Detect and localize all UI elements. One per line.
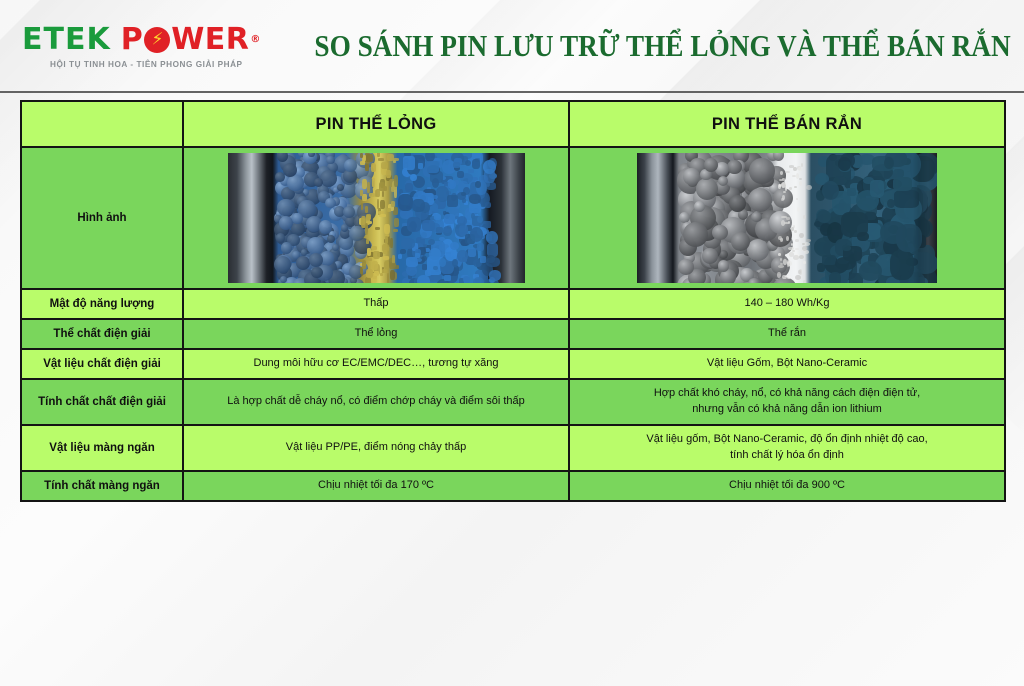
header-divider: [0, 91, 1024, 93]
row-label-5: Vật liệu màng ngăn: [21, 425, 183, 471]
cell-solid-3: Vật liệu Gốm, Bột Nano-Ceramic: [569, 349, 1005, 379]
page-title: SO SÁNH PIN LƯU TRỮ THỂ LỎNG VÀ THỂ BÁN …: [314, 28, 965, 64]
registered-trademark-icon: ®: [250, 34, 260, 45]
cell-solid-image: [569, 147, 1005, 289]
table-body: Hình ảnhMật độ năng lượngThấp140 – 180 W…: [21, 147, 1005, 501]
comparison-table-wrapper: PIN THỂ LỎNG PIN THỂ BÁN RẮN Hình ảnhMật…: [20, 100, 1004, 502]
table-corner-cell: [21, 101, 183, 147]
table-row: Thể chất điện giảiThể lỏngThể rắn: [21, 319, 1005, 349]
cell-solid-4: Hợp chất khó cháy, nổ, có khả năng cách …: [569, 379, 1005, 425]
table-header-row: PIN THỂ LỎNG PIN THỂ BÁN RẮN: [21, 101, 1005, 147]
cell-liquid-1: Thấp: [183, 289, 569, 319]
row-label-2: Thể chất điện giải: [21, 319, 183, 349]
cell-liquid-3: Dung môi hữu cơ EC/EMC/DEC…, tương tự xă…: [183, 349, 569, 379]
table-row: Hình ảnh: [21, 147, 1005, 289]
cell-liquid-5: Vật liệu PP/PE, điểm nóng chảy thấp: [183, 425, 569, 471]
solid-battery-photo: [637, 153, 937, 283]
brand-tagline: HỘI TỤ TINH HOA - TIÊN PHONG GIẢI PHÁP: [50, 60, 262, 69]
row-label-1: Mật độ năng lượng: [21, 289, 183, 319]
cell-solid-5: Vật liệu gốm, Bột Nano-Ceramic, độ ổn đị…: [569, 425, 1005, 471]
cell-solid-2: Thể rắn: [569, 319, 1005, 349]
row-label-4: Tính chất chất điện giải: [21, 379, 183, 425]
cell-liquid-2: Thể lỏng: [183, 319, 569, 349]
cell-liquid-6: Chịu nhiệt tối đa 170 ºC: [183, 471, 569, 501]
cell-solid-6: Chịu nhiệt tối đa 900 ºC: [569, 471, 1005, 501]
brand-logo: ETEK P ⚡ WER ® HỘI TỤ TINH HOA - TIÊN PH…: [22, 22, 262, 69]
table-row: Vật liệu màng ngănVật liệu PP/PE, điểm n…: [21, 425, 1005, 471]
table-row: Tính chất chất điện giảiLà hợp chất dễ c…: [21, 379, 1005, 425]
brand-p-text: P: [121, 22, 144, 57]
cell-liquid-4: Là hợp chất dễ cháy nổ, có điểm chớp chá…: [183, 379, 569, 425]
row-label-6: Tính chất màng ngăn: [21, 471, 183, 501]
row-label-3: Vật liệu chất điện giải: [21, 349, 183, 379]
column-header-liquid: PIN THỂ LỎNG: [183, 101, 569, 147]
cell-liquid-image: [183, 147, 569, 289]
table-row: Tính chất màng ngănChịu nhiệt tối đa 170…: [21, 471, 1005, 501]
brand-wer-text: WER: [171, 22, 249, 57]
comparison-table: PIN THỂ LỎNG PIN THỂ BÁN RẮN Hình ảnhMật…: [20, 100, 1006, 502]
table-row: Vật liệu chất điện giảiDung môi hữu cơ E…: [21, 349, 1005, 379]
brand-etek-text: ETEK: [22, 22, 111, 57]
liquid-battery-photo: [228, 153, 525, 283]
column-header-solid: PIN THỂ BÁN RẮN: [569, 101, 1005, 147]
infographic-page: ETEK P ⚡ WER ® HỘI TỤ TINH HOA - TIÊN PH…: [0, 0, 1024, 686]
table-row: Mật độ năng lượngThấp140 – 180 Wh/Kg: [21, 289, 1005, 319]
lightning-bolt-icon: ⚡: [144, 27, 170, 53]
row-label-0: Hình ảnh: [21, 147, 183, 289]
cell-solid-1: 140 – 180 Wh/Kg: [569, 289, 1005, 319]
page-header: ETEK P ⚡ WER ® HỘI TỤ TINH HOA - TIÊN PH…: [0, 0, 1024, 92]
bolt-glyph: ⚡: [151, 31, 162, 48]
brand-logo-wordmark: ETEK P ⚡ WER ®: [22, 22, 262, 57]
